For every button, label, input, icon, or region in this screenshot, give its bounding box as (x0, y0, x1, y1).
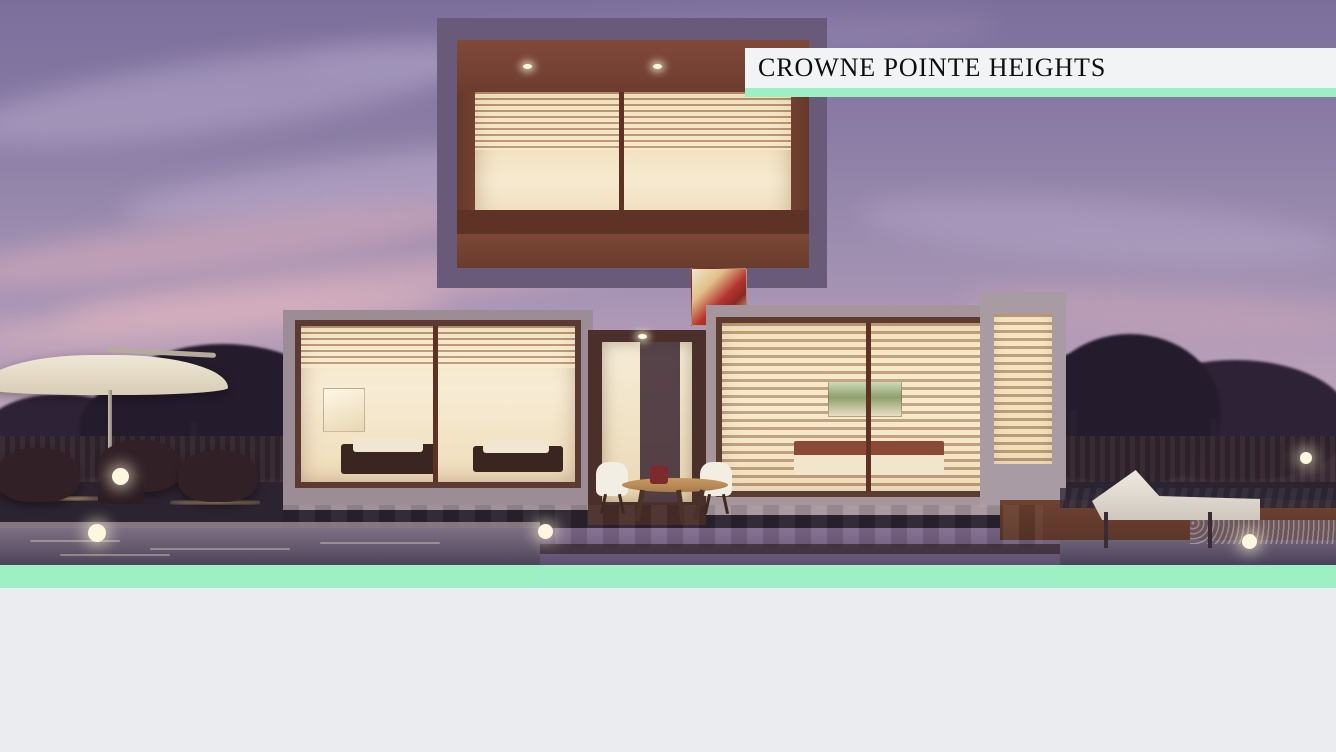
far-right-wall (980, 292, 1066, 507)
patio-chair (0, 448, 80, 502)
dining-chair (596, 462, 628, 496)
garden-light-orb (1242, 534, 1257, 549)
listing-flyer-slide: CROWNE POINTE HEIGHTS 121 East 2nd St, S… (0, 0, 1336, 752)
patio-chair (178, 450, 258, 502)
property-name: CROWNE POINTE HEIGHTS (758, 53, 1106, 83)
garden-light-orb (88, 524, 106, 542)
garden-light-orb (538, 524, 553, 539)
banner-accent-rule (745, 88, 1336, 97)
garden-light-orb (112, 468, 129, 485)
property-name-banner: CROWNE POINTE HEIGHTS (745, 48, 1336, 97)
garden-light-orb (1300, 452, 1312, 464)
accent-divider-bar (0, 565, 1336, 588)
lounger-leg (1104, 512, 1108, 548)
footer: 121 East 2nd St, Sonoma CA, 91120 5 Bed … (0, 588, 1336, 752)
left-wing-living-room (283, 310, 593, 510)
swimming-pool-left (0, 528, 540, 565)
lounger-leg (1208, 512, 1212, 548)
table-centerpiece (650, 466, 668, 484)
banner-box: CROWNE POINTE HEIGHTS (745, 48, 1336, 88)
